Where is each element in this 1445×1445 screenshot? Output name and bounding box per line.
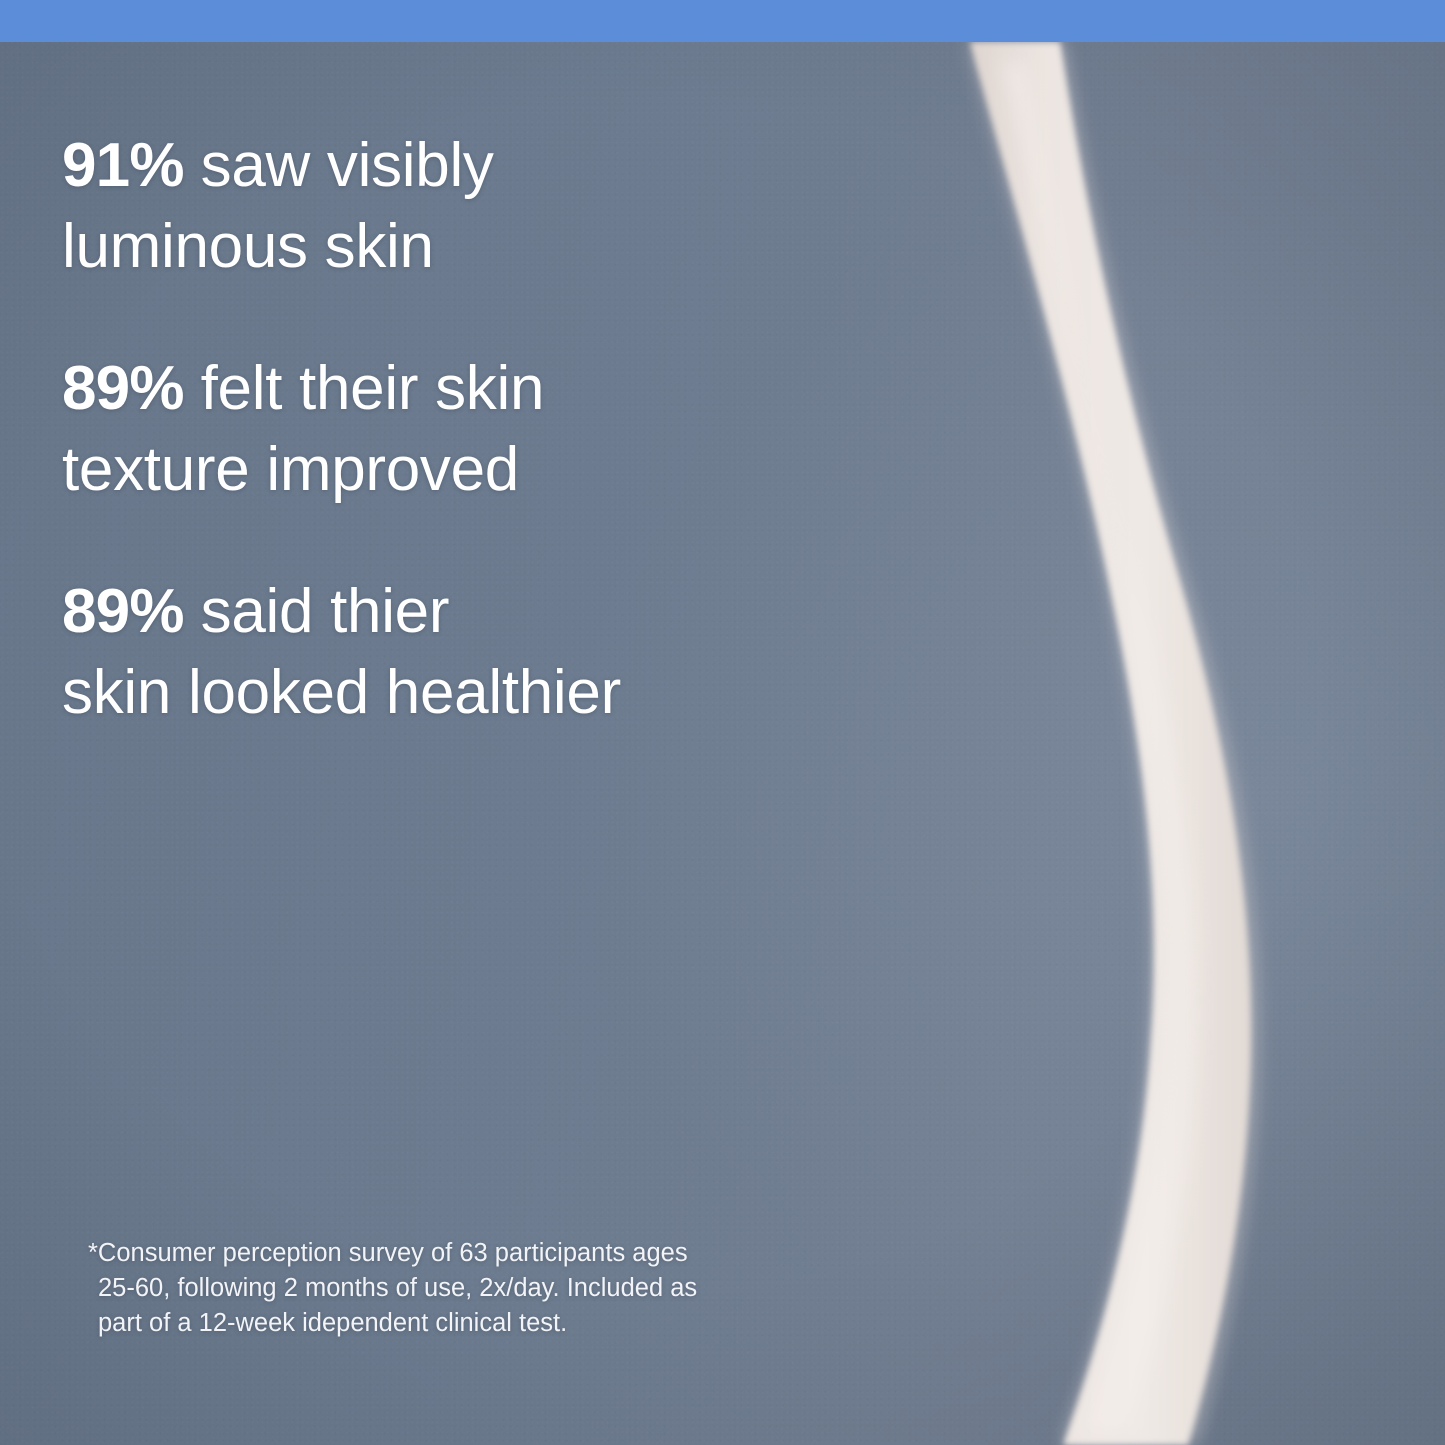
claim-text-line2: skin looked healthier bbox=[62, 653, 782, 734]
claims-list: 91% saw visibly luminous skin 89% felt t… bbox=[62, 126, 782, 734]
claim-item: 89% said thier skin looked healthier bbox=[62, 572, 782, 733]
claim-item: 91% saw visibly luminous skin bbox=[62, 126, 782, 287]
disclaimer-line-1: *Consumer perception survey of 63 partic… bbox=[88, 1236, 888, 1271]
top-accent-bar bbox=[0, 0, 1445, 42]
disclaimer-footnote: *Consumer perception survey of 63 partic… bbox=[88, 1236, 888, 1341]
disclaimer-line-2: 25-60, following 2 months of use, 2x/day… bbox=[88, 1271, 888, 1306]
claim-percent: 89% bbox=[62, 577, 184, 646]
claim-item: 89% felt their skin texture improved bbox=[62, 349, 782, 510]
disclaimer-line-3: part of a 12-week idependent clinical te… bbox=[88, 1306, 888, 1341]
claim-text-line1: felt their skin bbox=[184, 354, 544, 423]
claim-text-line2: luminous skin bbox=[62, 207, 782, 288]
claim-text-line1: said thier bbox=[184, 577, 450, 646]
claim-percent: 91% bbox=[62, 131, 184, 200]
claim-text-line1: saw visibly bbox=[184, 131, 494, 200]
marketing-claims-image: 91% saw visibly luminous skin 89% felt t… bbox=[0, 0, 1445, 1445]
claim-text-line2: texture improved bbox=[62, 430, 782, 511]
claim-percent: 89% bbox=[62, 354, 184, 423]
